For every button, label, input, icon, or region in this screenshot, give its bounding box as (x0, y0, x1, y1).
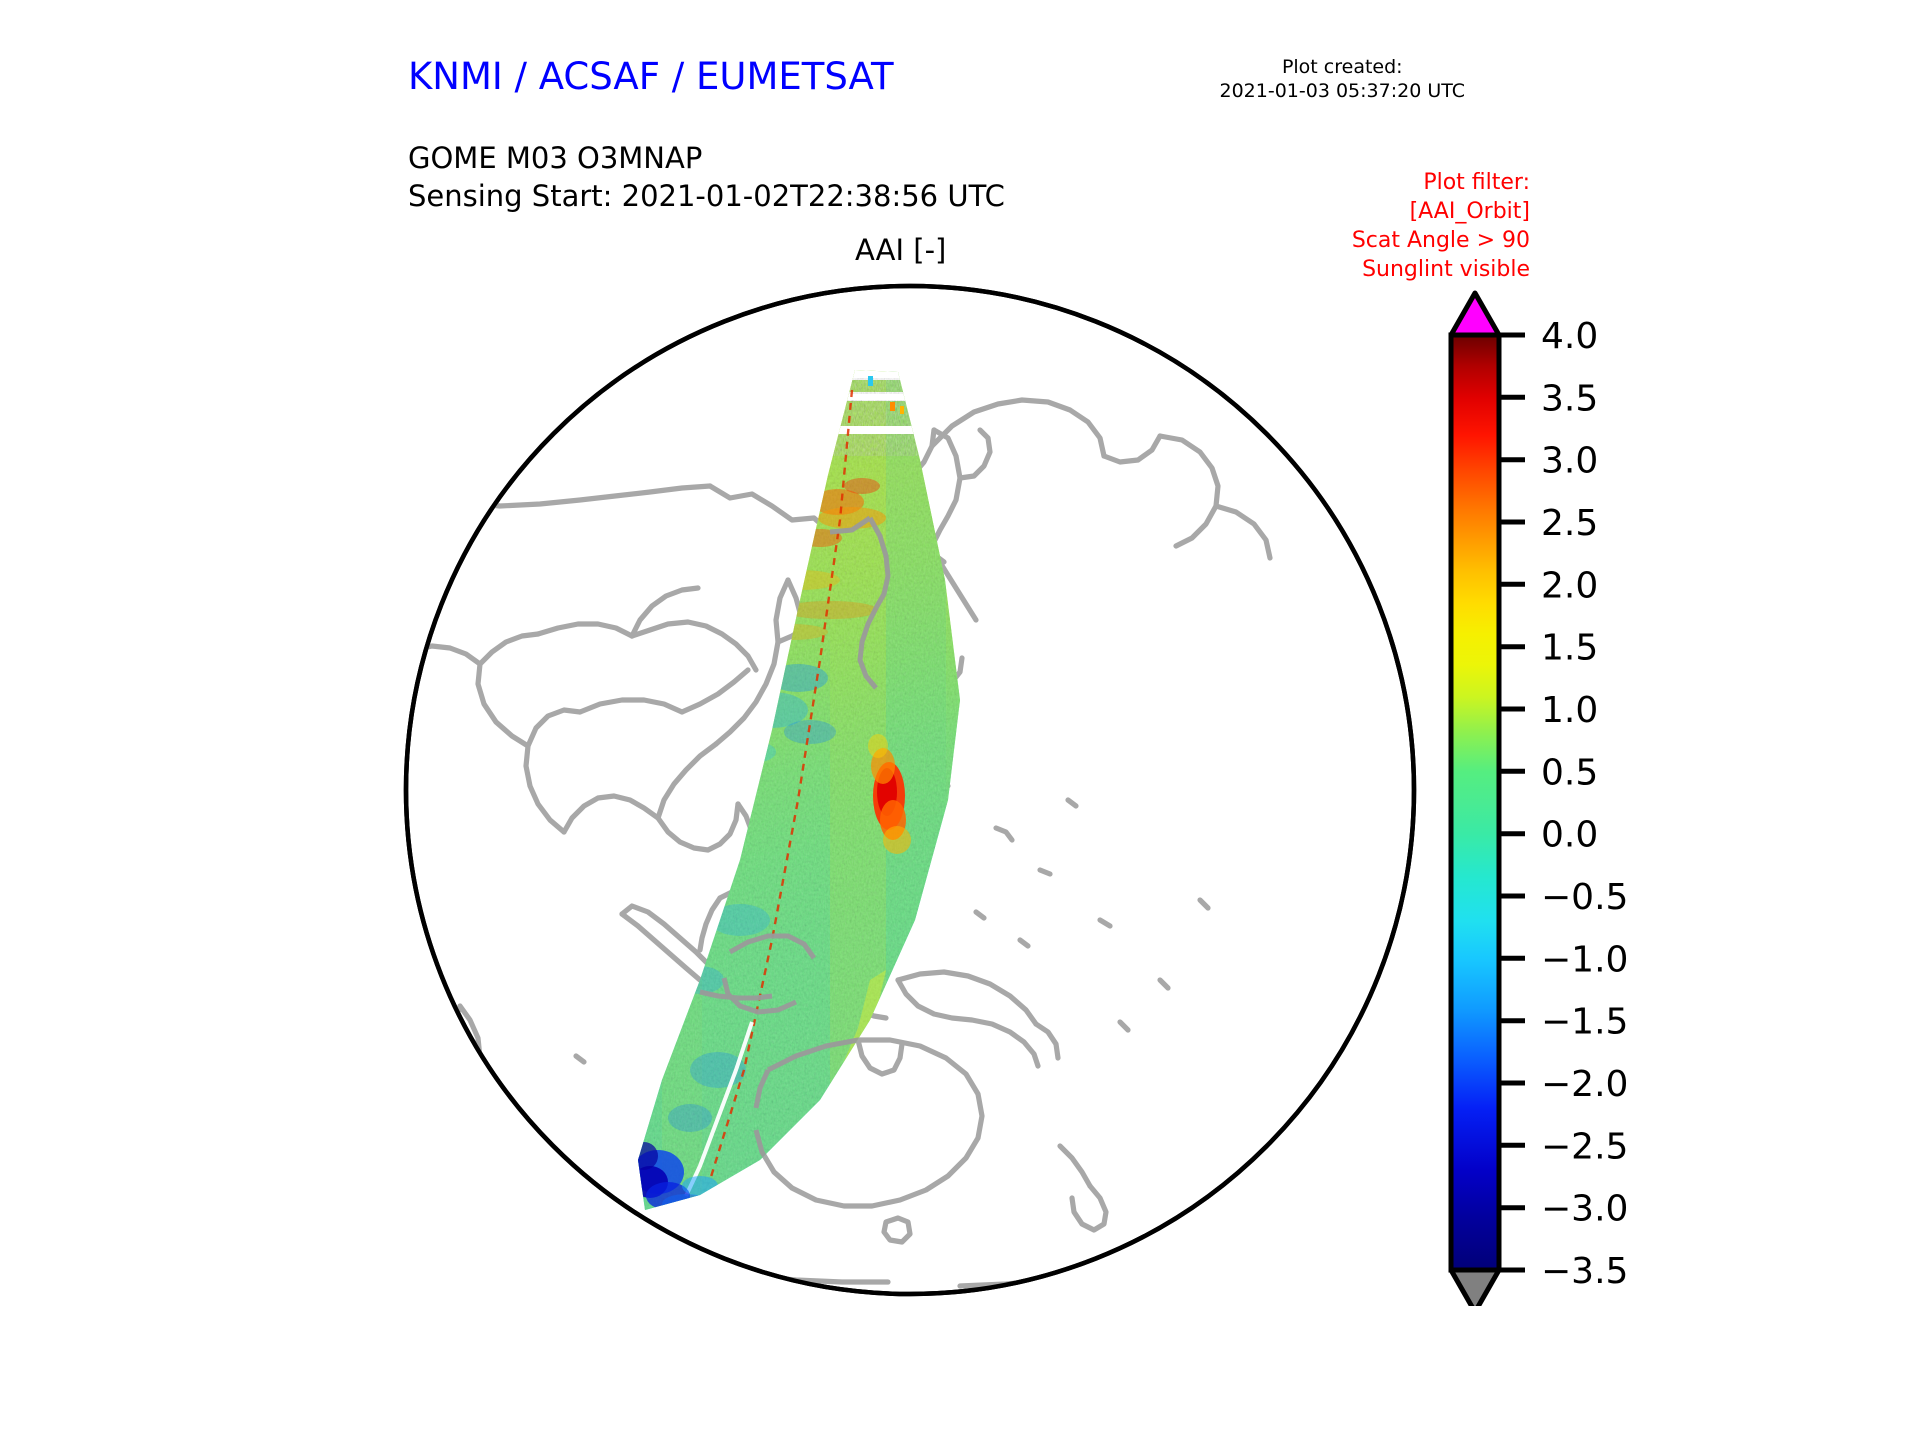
colorbar-tick-label: −3.0 (1541, 1189, 1628, 1230)
product-block: GOME M03 O3MNAP Sensing Start: 2021-01-0… (408, 140, 1005, 215)
colorbar-tick-label: 3.5 (1541, 378, 1598, 419)
plot-filter-block: Plot filter: [AAI_Orbit] Scat Angle > 90… (1352, 168, 1530, 284)
colorbar-over-range-arrow (1451, 293, 1499, 335)
colorbar-tick-label: 1.0 (1541, 690, 1598, 731)
product-name: GOME M03 O3MNAP (408, 140, 1005, 178)
colorbar-ticks (1499, 335, 1525, 1270)
colorbar: 4.0 3.5 3.0 2.5 2.0 1.5 1.0 0.5 0.0 −0.5… (1437, 286, 1687, 1306)
plot-canvas: KNMI / ACSAF / EUMETSAT Plot created: 20… (0, 0, 1920, 1440)
colorbar-under-range-arrow (1451, 1270, 1499, 1306)
sensing-start: Sensing Start: 2021-01-02T22:38:56 UTC (408, 178, 1005, 216)
plot-filter-line-1: [AAI_Orbit] (1352, 197, 1530, 226)
colorbar-tick-label: 0.0 (1541, 815, 1598, 856)
colorbar-tick-label: 3.0 (1541, 441, 1598, 482)
colorbar-tick-label: 2.5 (1541, 503, 1598, 544)
colorbar-tick-label: 1.5 (1541, 628, 1598, 669)
colorbar-tick-label: −2.5 (1541, 1126, 1628, 1167)
colorbar-tick-label: 0.5 (1541, 752, 1598, 793)
plot-created-block: Plot created: 2021-01-03 05:37:20 UTC (1220, 55, 1466, 104)
plot-filter-title: Plot filter: (1352, 168, 1530, 197)
colorbar-tick-label: −3.5 (1541, 1251, 1628, 1292)
colorbar-tick-label: 4.0 (1541, 316, 1598, 357)
colorbar-tick-label: −1.5 (1541, 1002, 1628, 1043)
colorbar-gradient (1451, 335, 1499, 1270)
colorbar-tick-label: −1.0 (1541, 939, 1628, 980)
plot-created-timestamp: 2021-01-03 05:37:20 UTC (1220, 79, 1466, 103)
plot-filter-line-2: Scat Angle > 90 (1352, 226, 1530, 255)
colorbar-tick-labels: 4.0 3.5 3.0 2.5 2.0 1.5 1.0 0.5 0.0 −0.5… (1541, 316, 1628, 1292)
colorbar-tick-label: 2.0 (1541, 565, 1598, 606)
globe-map (400, 280, 1420, 1300)
colorbar-tick-label: −2.0 (1541, 1064, 1628, 1105)
plot-created-label: Plot created: (1220, 55, 1466, 79)
page-title: AAI [-] (855, 233, 946, 267)
colorbar-tick-label: −0.5 (1541, 877, 1628, 918)
organisation-title: KNMI / ACSAF / EUMETSAT (408, 55, 894, 98)
